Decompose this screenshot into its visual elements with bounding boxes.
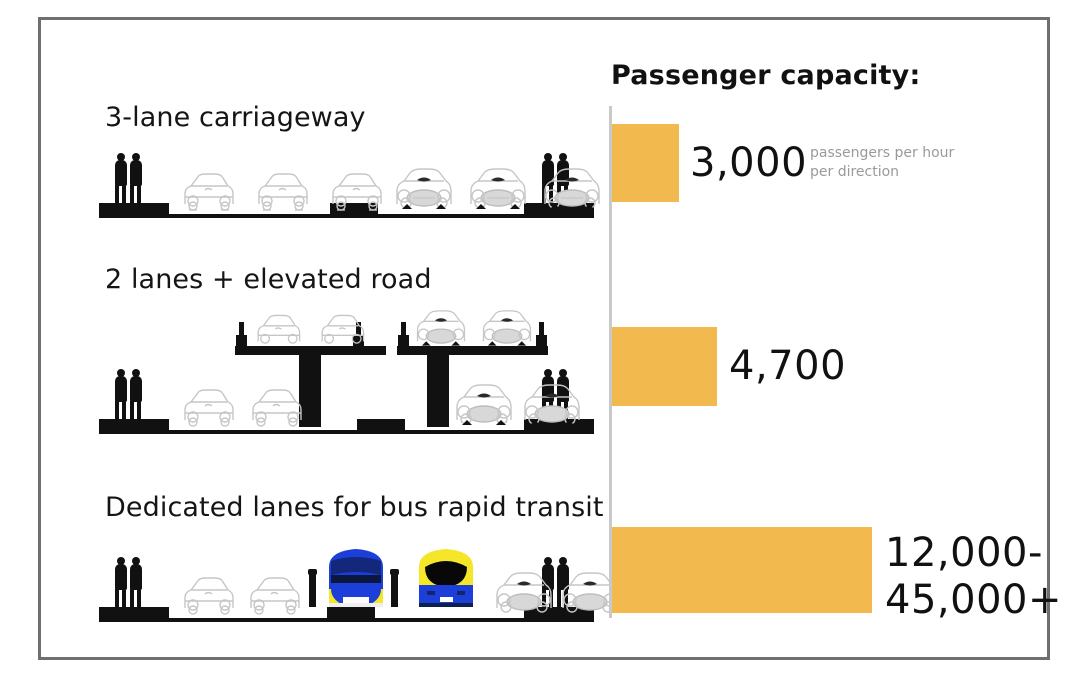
barrier-post xyxy=(401,322,406,346)
bar-unit-note: passengers per hour per direction xyxy=(810,144,954,182)
bar-dedicated-lanes-brt xyxy=(612,527,872,613)
barrier-post xyxy=(539,322,544,346)
car-outline-elevated xyxy=(249,312,307,350)
chart-title: Passenger capacity: xyxy=(611,60,920,91)
scene-label-two-lanes-elevated-road: 2 lanes + elevated road xyxy=(105,264,432,295)
median-strip xyxy=(357,419,405,430)
scene-label-three-lane-carriageway: 3-lane carriageway xyxy=(105,102,366,133)
car-outline-front xyxy=(465,168,531,214)
bar-value-two-lanes-elevated-road: 4,700 xyxy=(729,343,846,390)
bar-value-dedicated-lanes-brt: 12,000- 45,000+ xyxy=(885,530,1062,624)
pedestrian-silhouette xyxy=(113,557,128,607)
road-scenes-column: 3-lane carriageway xyxy=(41,20,601,657)
car-outline-front xyxy=(451,384,517,430)
bar-three-lane-carriageway xyxy=(612,124,679,202)
car-outline xyxy=(245,386,307,430)
barrier-post xyxy=(239,322,244,346)
brt-bus-rear xyxy=(409,545,483,607)
infographic-frame: 3-lane carriageway xyxy=(38,17,1050,660)
scene-dedicated-lanes-brt xyxy=(99,540,594,622)
bar-value-three-lane-carriageway: 3,000 xyxy=(690,140,807,187)
pedestrian-group-left xyxy=(111,557,155,607)
scene-label-dedicated-lanes-brt: Dedicated lanes for bus rapid transit xyxy=(105,492,604,523)
car-outline-front xyxy=(391,168,457,214)
scene-three-lane-carriageway xyxy=(99,148,594,218)
support-pillar-right xyxy=(427,355,449,427)
pedestrian-silhouette xyxy=(128,369,143,419)
pedestrian-silhouette xyxy=(128,153,143,203)
bar-two-lanes-elevated-road xyxy=(612,327,717,406)
road-surface xyxy=(99,618,594,622)
road-surface xyxy=(99,430,594,434)
sidewalk-left xyxy=(99,607,169,618)
pedestrian-group-left xyxy=(111,153,155,203)
car-outline-front xyxy=(491,572,557,618)
brt-bus-front xyxy=(319,545,393,607)
sidewalk-left xyxy=(99,419,169,430)
median-strip xyxy=(327,607,375,618)
car-outline-elevated-front xyxy=(477,310,537,350)
sidewalk-left xyxy=(99,203,169,214)
pedestrian-silhouette xyxy=(128,557,143,607)
car-outline-front xyxy=(519,384,585,430)
car-outline-elevated xyxy=(313,312,371,350)
passenger-capacity-chart: Passenger capacity: 3,000 passengers per… xyxy=(604,20,1047,657)
scene-two-lanes-elevated-road xyxy=(99,304,594,434)
car-outline xyxy=(177,386,239,430)
car-outline xyxy=(325,170,387,214)
car-outline-elevated-front xyxy=(411,310,471,350)
lane-separator-post xyxy=(309,573,316,607)
car-outline-front xyxy=(539,168,605,214)
car-outline xyxy=(251,170,313,214)
pedestrian-silhouette xyxy=(113,369,128,419)
pedestrian-group-left xyxy=(111,369,155,419)
car-outline xyxy=(177,170,239,214)
road-surface xyxy=(99,214,594,218)
car-outline xyxy=(243,574,305,618)
car-outline xyxy=(177,574,239,618)
pedestrian-silhouette xyxy=(113,153,128,203)
